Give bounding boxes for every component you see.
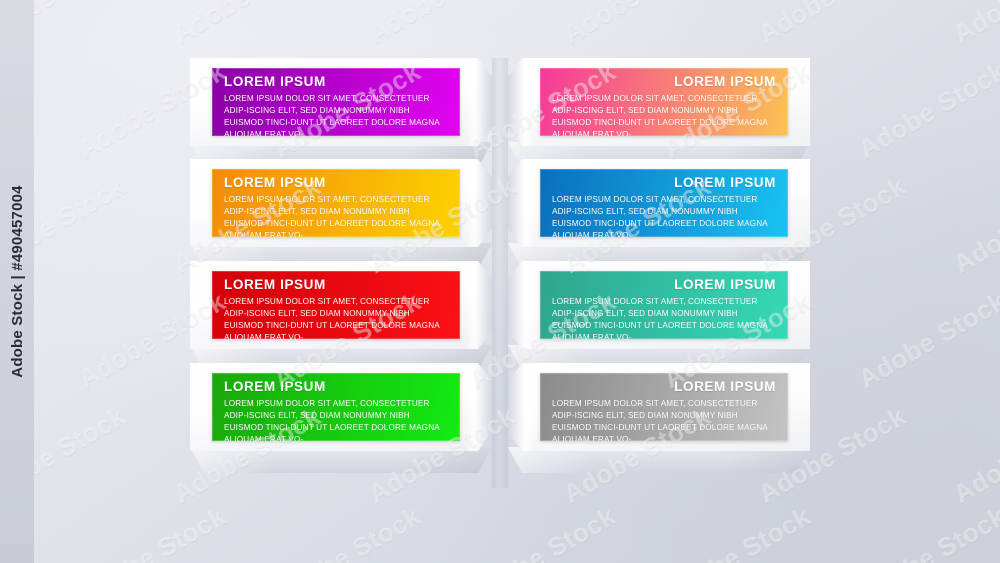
card-panel[interactable]: LOREM IPSUM LOREM IPSUM DOLOR SIT AMET, … [540,271,788,339]
card-title: LOREM IPSUM [224,380,448,394]
card-left-2[interactable]: LOREM IPSUM LOREM IPSUM DOLOR SIT AMET, … [190,159,492,251]
watermark-text: Adobe Stock [853,501,1000,563]
watermark-text: Adobe Stock [363,0,521,50]
card-title: LOREM IPSUM [552,380,776,394]
card-body-text: LOREM IPSUM DOLOR SIT AMET, CONSECTETUER… [224,93,448,136]
infographic-board: LOREM IPSUM LOREM IPSUM DOLOR SIT AMET, … [190,58,810,488]
card-body-text: LOREM IPSUM DOLOR SIT AMET, CONSECTETUER… [224,398,448,441]
card-body-text: LOREM IPSUM DOLOR SIT AMET, CONSECTETUER… [224,194,448,237]
watermark-text: Adobe Stock [948,171,1000,280]
card-body-text: LOREM IPSUM DOLOR SIT AMET, CONSECTETUER… [552,194,776,237]
watermark-text: Adobe Stock [463,501,621,563]
card-panel[interactable]: LOREM IPSUM LOREM IPSUM DOLOR SIT AMET, … [540,169,788,237]
card-body-text: LOREM IPSUM DOLOR SIT AMET, CONSECTETUER… [224,296,448,339]
stock-sidebar-label: Adobe Stock | #490457004 [0,0,34,563]
watermark-text: Adobe Stock [753,0,911,50]
card-body-text: LOREM IPSUM DOLOR SIT AMET, CONSECTETUER… [552,398,776,441]
watermark-text: Adobe Stock [948,0,1000,50]
card-panel[interactable]: LOREM IPSUM LOREM IPSUM DOLOR SIT AMET, … [540,373,788,441]
card-left-4[interactable]: LOREM IPSUM LOREM IPSUM DOLOR SIT AMET, … [190,363,492,455]
card-title: LOREM IPSUM [552,75,776,89]
watermark-text: Adobe Stock [168,0,326,50]
card-title: LOREM IPSUM [224,176,448,190]
card-title: LOREM IPSUM [224,278,448,292]
card-panel[interactable]: LOREM IPSUM LOREM IPSUM DOLOR SIT AMET, … [212,271,460,339]
card-title: LOREM IPSUM [552,176,776,190]
card-panel[interactable]: LOREM IPSUM LOREM IPSUM DOLOR SIT AMET, … [212,373,460,441]
card-panel[interactable]: LOREM IPSUM LOREM IPSUM DOLOR SIT AMET, … [212,68,460,136]
card-right-1[interactable]: LOREM IPSUM LOREM IPSUM DOLOR SIT AMET, … [508,58,810,150]
watermark-text: Adobe Stock [268,501,426,563]
right-column: LOREM IPSUM LOREM IPSUM DOLOR SIT AMET, … [508,58,810,488]
watermark-text: Adobe Stock [948,401,1000,510]
center-seam [492,58,508,488]
card-title: LOREM IPSUM [224,75,448,89]
card-title: LOREM IPSUM [552,278,776,292]
watermark-text: Adobe Stock [558,0,716,50]
card-right-4[interactable]: LOREM IPSUM LOREM IPSUM DOLOR SIT AMET, … [508,363,810,455]
card-panel[interactable]: LOREM IPSUM LOREM IPSUM DOLOR SIT AMET, … [212,169,460,237]
card-right-2[interactable]: LOREM IPSUM LOREM IPSUM DOLOR SIT AMET, … [508,159,810,251]
card-body-text: LOREM IPSUM DOLOR SIT AMET, CONSECTETUER… [552,93,776,136]
card-right-3[interactable]: LOREM IPSUM LOREM IPSUM DOLOR SIT AMET, … [508,261,810,353]
card-left-1[interactable]: LOREM IPSUM LOREM IPSUM DOLOR SIT AMET, … [190,58,492,150]
watermark-text: Adobe Stock [658,501,816,563]
watermark-text: Adobe Stock [853,56,1000,165]
stock-sidebar-strip: Adobe Stock | #490457004 [0,0,34,563]
watermark-text: Adobe Stock [853,286,1000,395]
card-panel[interactable]: LOREM IPSUM LOREM IPSUM DOLOR SIT AMET, … [540,68,788,136]
watermark-text: Adobe Stock [73,501,231,563]
card-body-text: LOREM IPSUM DOLOR SIT AMET, CONSECTETUER… [552,296,776,339]
left-column: LOREM IPSUM LOREM IPSUM DOLOR SIT AMET, … [190,58,492,488]
card-left-3[interactable]: LOREM IPSUM LOREM IPSUM DOLOR SIT AMET, … [190,261,492,353]
